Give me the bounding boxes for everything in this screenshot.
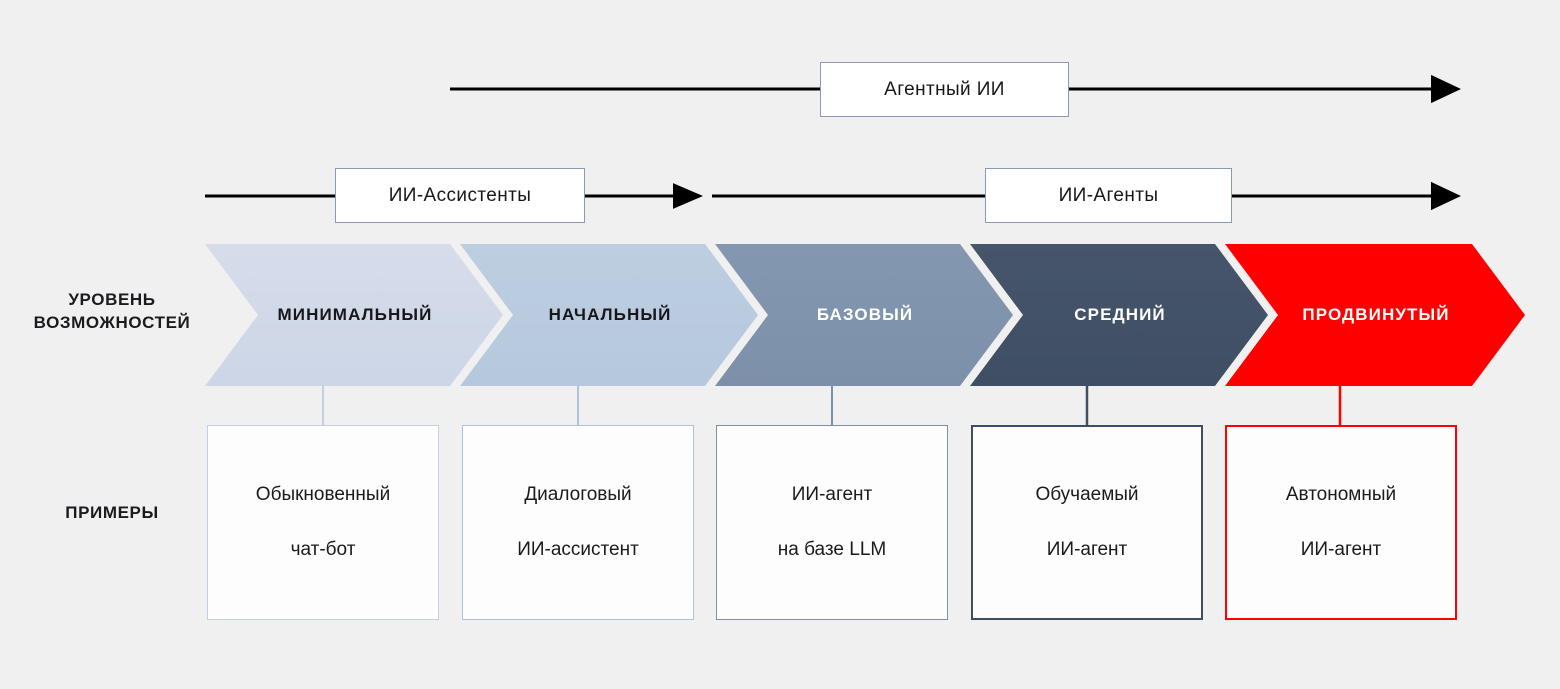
- example-box-5-line2: ИИ-агент: [1286, 536, 1396, 564]
- label-box-ai-agents-text: ИИ-Агенты: [1059, 185, 1159, 207]
- label-box-ai-assistants[interactable]: ИИ-Ассистенты: [335, 168, 585, 223]
- diagram-canvas: Агентный ИИ ИИ-Ассистенты ИИ-Агенты: [0, 0, 1560, 689]
- example-box-3-line2: на базе LLM: [778, 536, 886, 564]
- example-box-4[interactable]: Обучаемый ИИ-агент: [971, 425, 1203, 620]
- chevron-shapes: [205, 244, 1525, 386]
- chevron-stage-1[interactable]: [205, 244, 503, 386]
- timeline-row-agentic-ai: Агентный ИИ: [0, 55, 1560, 125]
- capability-chevron-band: МИНИМАЛЬНЫЙ НАЧАЛЬНЫЙ БАЗОВЫЙ СРЕДНИЙ ПР…: [205, 244, 1525, 386]
- assistants-agents-axis-arrow: [0, 162, 1560, 232]
- example-box-5[interactable]: Автономный ИИ-агент: [1225, 425, 1457, 620]
- timeline-row-assistants-agents: ИИ-Ассистенты ИИ-Агенты: [0, 162, 1560, 232]
- example-box-1-line2: чат-бот: [256, 536, 390, 564]
- label-box-ai-agents[interactable]: ИИ-Агенты: [985, 168, 1232, 223]
- agentic-ai-axis-arrow: [0, 55, 1560, 125]
- example-box-2[interactable]: Диалоговый ИИ-ассистент: [462, 425, 694, 620]
- chevron-stage-4[interactable]: [970, 244, 1268, 386]
- label-box-agentic-ai[interactable]: Агентный ИИ: [820, 62, 1069, 117]
- example-box-4-line1: Обучаемый: [1035, 481, 1138, 509]
- example-box-2-line1: Диалоговый: [517, 481, 639, 509]
- chevron-stage-2[interactable]: [460, 244, 758, 386]
- label-box-agentic-ai-text: Агентный ИИ: [884, 79, 1005, 101]
- chevron-stage-5[interactable]: [1225, 244, 1525, 386]
- example-box-5-line1: Автономный: [1286, 481, 1396, 509]
- example-box-3[interactable]: ИИ-агент на базе LLM: [716, 425, 948, 620]
- row-label-capability-level-line2: ВОЗМОЖНОСТЕЙ: [12, 312, 212, 335]
- example-box-1-line1: Обыкновенный: [256, 481, 390, 509]
- row-label-examples: ПРИМЕРЫ: [12, 502, 212, 525]
- example-box-3-line1: ИИ-агент: [778, 481, 886, 509]
- row-label-capability-level-line1: УРОВЕНЬ: [12, 289, 212, 312]
- row-label-capability-level: УРОВЕНЬ ВОЗМОЖНОСТЕЙ: [12, 289, 212, 335]
- example-box-4-line2: ИИ-агент: [1035, 536, 1138, 564]
- example-box-2-line2: ИИ-ассистент: [517, 536, 639, 564]
- chevron-stage-3[interactable]: [715, 244, 1013, 386]
- label-box-ai-assistants-text: ИИ-Ассистенты: [389, 185, 532, 207]
- example-box-1[interactable]: Обыкновенный чат-бот: [207, 425, 439, 620]
